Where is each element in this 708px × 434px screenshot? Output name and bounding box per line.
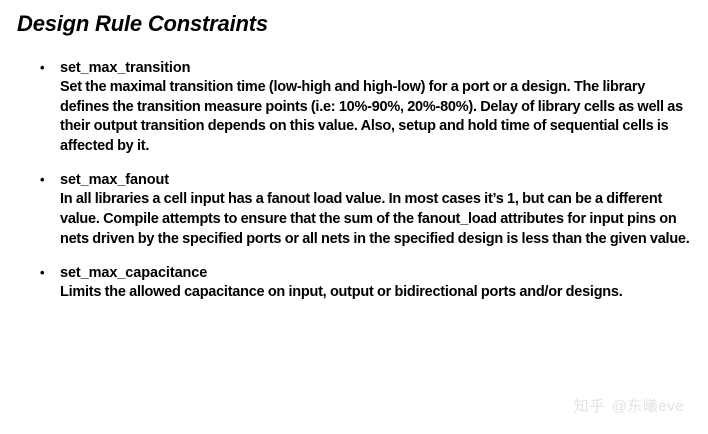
bullet-point-icon: •: [40, 58, 52, 78]
bullet-point-icon: •: [40, 263, 52, 283]
page-title: Design Rule Constraints: [17, 11, 268, 37]
constraint-term: set_max_transition: [60, 58, 708, 78]
list-item: • set_max_transition Set the maximal tra…: [0, 58, 708, 156]
bullet-list: • set_max_transition Set the maximal tra…: [0, 58, 708, 317]
constraint-description: In all libraries a cell input has a fano…: [60, 190, 692, 249]
constraint-description: Limits the allowed capacitance on input,…: [60, 283, 692, 303]
watermark-username: @东曦eve: [612, 398, 684, 416]
bullet-point-icon: •: [40, 170, 52, 190]
list-item: • set_max_capacitance Limits the allowed…: [0, 263, 708, 303]
watermark: 知乎 @东曦eve: [574, 398, 684, 416]
zhihu-logo: 知乎: [574, 398, 606, 416]
list-item: • set_max_fanout In all libraries a cell…: [0, 170, 708, 249]
constraint-term: set_max_capacitance: [60, 263, 708, 283]
constraint-description: Set the maximal transition time (low-hig…: [60, 78, 692, 156]
slide-canvas: Design Rule Constraints • set_max_transi…: [0, 0, 708, 434]
constraint-term: set_max_fanout: [60, 170, 708, 190]
